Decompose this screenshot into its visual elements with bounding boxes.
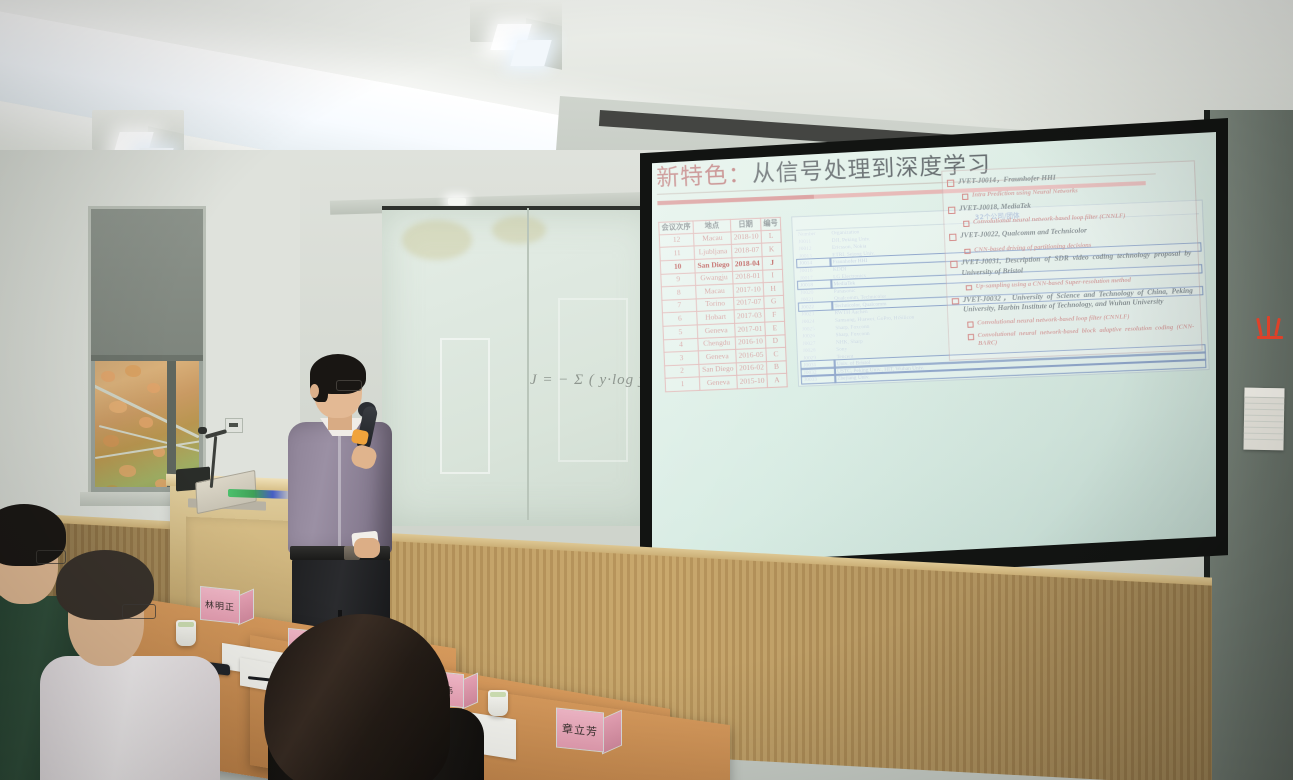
bullet-text: CNN-based driving of partitioning decisi… (974, 241, 1092, 254)
bullet-item-level2: Convolutional neural network-based block… (968, 323, 1195, 349)
cell-date: 2017-01 (735, 322, 766, 336)
attendee-glasses (122, 604, 156, 619)
cell-date: 2018-07 (731, 244, 762, 258)
meeting-schedule-table: 会议次序 地点 日期 编号 12Macau2018-10L11Ljubljana… (658, 217, 788, 392)
wall-power-socket (225, 418, 243, 433)
microphone-windscreen (351, 428, 370, 445)
bullet-square-icon (949, 234, 956, 241)
cell-order: 1 (665, 377, 700, 392)
window (88, 206, 206, 496)
cell-number: K (761, 243, 781, 257)
cell-number: I (763, 269, 783, 283)
attendee-shirt (40, 656, 220, 780)
presenter-shirt-placket (338, 434, 341, 546)
presenter-hand (354, 538, 380, 558)
ceiling-spotlight-right (470, 2, 562, 76)
cell-date: 2018-04 (732, 257, 763, 271)
presenter-ear (310, 384, 319, 398)
bullet-text: JVET-J0032，University of Science and Tec… (963, 286, 1194, 315)
presenter-glasses (336, 380, 362, 391)
proposal-bullet-list: JVET-J0014，Fraunhofer HHIIntra Predictio… (941, 160, 1202, 361)
slide-title-prefix: 新特色： (656, 162, 753, 192)
bullet-text: Intra Prediction using Neural Networks (972, 187, 1078, 200)
cell-number: B (766, 361, 786, 375)
bullet-text: JVET-J0014，Fraunhofer HHI (958, 173, 1056, 187)
org-cell-number: J0033 (802, 375, 836, 384)
attendee-white-shirt (46, 556, 216, 780)
bullet-item-level1: JVET-J0031, Description of SDR video cod… (950, 249, 1192, 278)
cell-number: J (762, 256, 782, 270)
cell-date: 2016-10 (735, 335, 766, 349)
bullet-item-level1: JVET-J0032，University of Science and Tec… (952, 286, 1194, 315)
red-wall-logo-icon (1256, 316, 1288, 342)
name-card: 章立芳 (556, 710, 622, 754)
bullet-text: JVET-J0031, Description of SDR video cod… (961, 249, 1192, 278)
whiteboard-formula: J = − Σ ( y·log ŷ ) (530, 372, 657, 389)
window-mullion (167, 361, 176, 487)
bullet-text: Convolutional neural network-based block… (978, 323, 1195, 348)
bullet-square-icon (952, 298, 959, 305)
meeting-table-body: 12Macau2018-10L11Ljubljana2018-07K10San … (659, 230, 787, 392)
ceiling-downlight-small (448, 198, 466, 205)
window-roller-blind[interactable] (91, 209, 203, 359)
name-card-text: 章立芳 (556, 707, 604, 752)
cell-date: 2016-05 (736, 348, 767, 362)
cell-date: 2015-10 (737, 374, 768, 388)
cell-number: E (765, 321, 785, 335)
bullet-square-icon (963, 221, 969, 227)
whiteboard (382, 206, 660, 526)
cell-date: 2018-10 (731, 230, 762, 244)
cell-date: 2017-10 (733, 283, 764, 297)
bullet-square-icon (950, 261, 957, 268)
cell-number: D (765, 334, 785, 348)
conference-room-photo: J = − Σ ( y·log ŷ ) 新特色：从信号处理到深度学习 会议次序 … (0, 0, 1293, 780)
bullet-square-icon (948, 207, 955, 214)
whiteboard-seam (527, 208, 529, 520)
cell-number: A (767, 374, 787, 388)
cell-date: 2018-01 (732, 270, 763, 284)
cell-date: 2017-07 (734, 296, 765, 310)
attendee-hair (264, 614, 450, 780)
cell-number: H (763, 282, 783, 296)
col-header-number: 编号 (760, 217, 780, 230)
cell-date: 2016-02 (736, 361, 767, 375)
presentation-slide: 新特色：从信号处理到深度学习 会议次序 地点 日期 编号 12Macau2018… (652, 132, 1216, 566)
blind-bottom-bar[interactable] (91, 355, 203, 361)
bullet-square-icon (947, 180, 954, 187)
attendee-long-hair (292, 614, 502, 780)
cell-location: Geneva (699, 376, 737, 391)
gooseneck-microphone-head (198, 427, 207, 434)
cell-number: L (761, 230, 781, 244)
cell-date: 2017-03 (734, 309, 765, 323)
bullet-square-icon (968, 334, 974, 340)
bullet-text: JVET-J0022, Qualcomm and Technicolor (960, 226, 1087, 241)
projection-screen: 新特色：从信号处理到深度学习 会议次序 地点 日期 编号 12Macau2018… (652, 132, 1216, 566)
wall-notice-poster (1243, 388, 1284, 451)
bullet-square-icon (964, 248, 970, 254)
bullet-square-icon (966, 285, 972, 291)
bullet-square-icon (967, 322, 973, 328)
bullet-square-icon (962, 194, 968, 200)
cell-number: G (764, 295, 784, 309)
cell-number: C (766, 347, 786, 361)
bullet-text: JVET-J0018, MediaTek (959, 202, 1031, 215)
cell-number: F (764, 308, 784, 322)
